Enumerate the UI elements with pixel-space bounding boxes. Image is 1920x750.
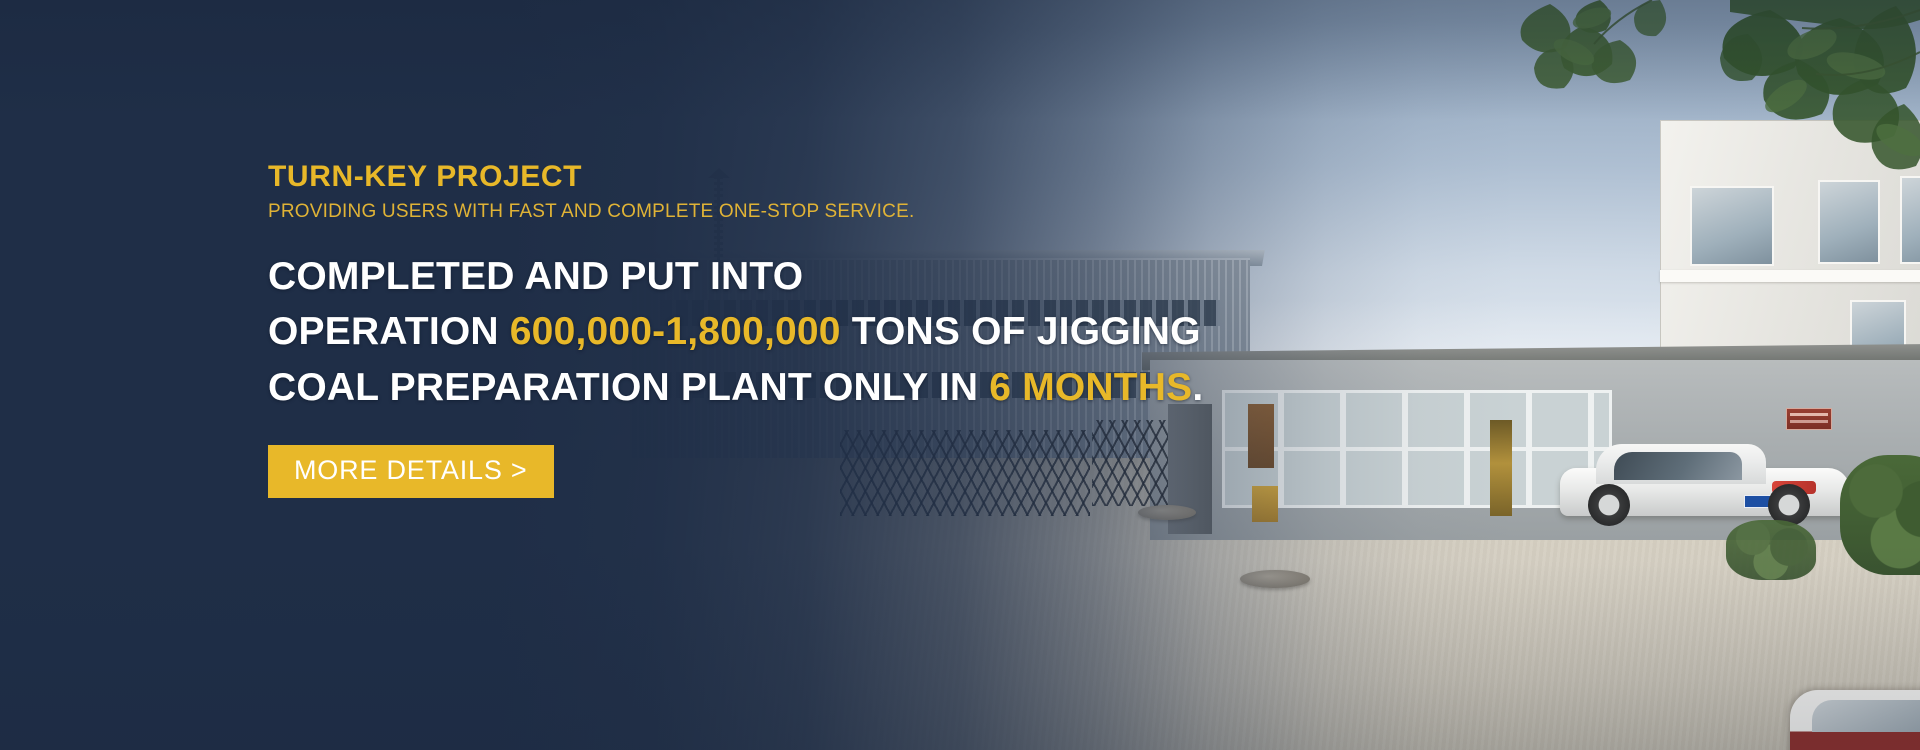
headline-line-3-suffix: . — [1192, 366, 1203, 409]
headline-line-3-prefix: COAL PREPARATION PLANT ONLY IN — [268, 366, 989, 409]
headline-line-1: COMPLETED AND PUT INTO — [268, 249, 1268, 304]
headline-line-3: COAL PREPARATION PLANT ONLY IN 6 MONTHS. — [268, 360, 1268, 415]
hero-banner: TURN-KEY PROJECT PROVIDING USERS WITH FA… — [0, 0, 1920, 750]
hero-content: TURN-KEY PROJECT PROVIDING USERS WITH FA… — [268, 160, 1268, 498]
eyebrow-subtitle: PROVIDING USERS WITH FAST AND COMPLETE O… — [268, 202, 1268, 223]
eyebrow-title: TURN-KEY PROJECT — [268, 160, 1268, 193]
headline-line-2-prefix: OPERATION — [268, 310, 510, 353]
headline-tonnage-highlight: 600,000-1,800,000 — [510, 310, 841, 353]
headline-line-2: OPERATION 600,000-1,800,000 TONS OF JIGG… — [268, 304, 1268, 359]
headline-line-2-suffix: TONS OF JIGGING — [841, 310, 1201, 353]
headline-line-1-text: COMPLETED AND PUT INTO — [268, 255, 803, 298]
headline-duration-highlight: 6 MONTHS — [989, 366, 1192, 409]
headline: COMPLETED AND PUT INTO OPERATION 600,000… — [268, 249, 1268, 415]
more-details-button[interactable]: MORE DETAILS > — [268, 445, 554, 498]
